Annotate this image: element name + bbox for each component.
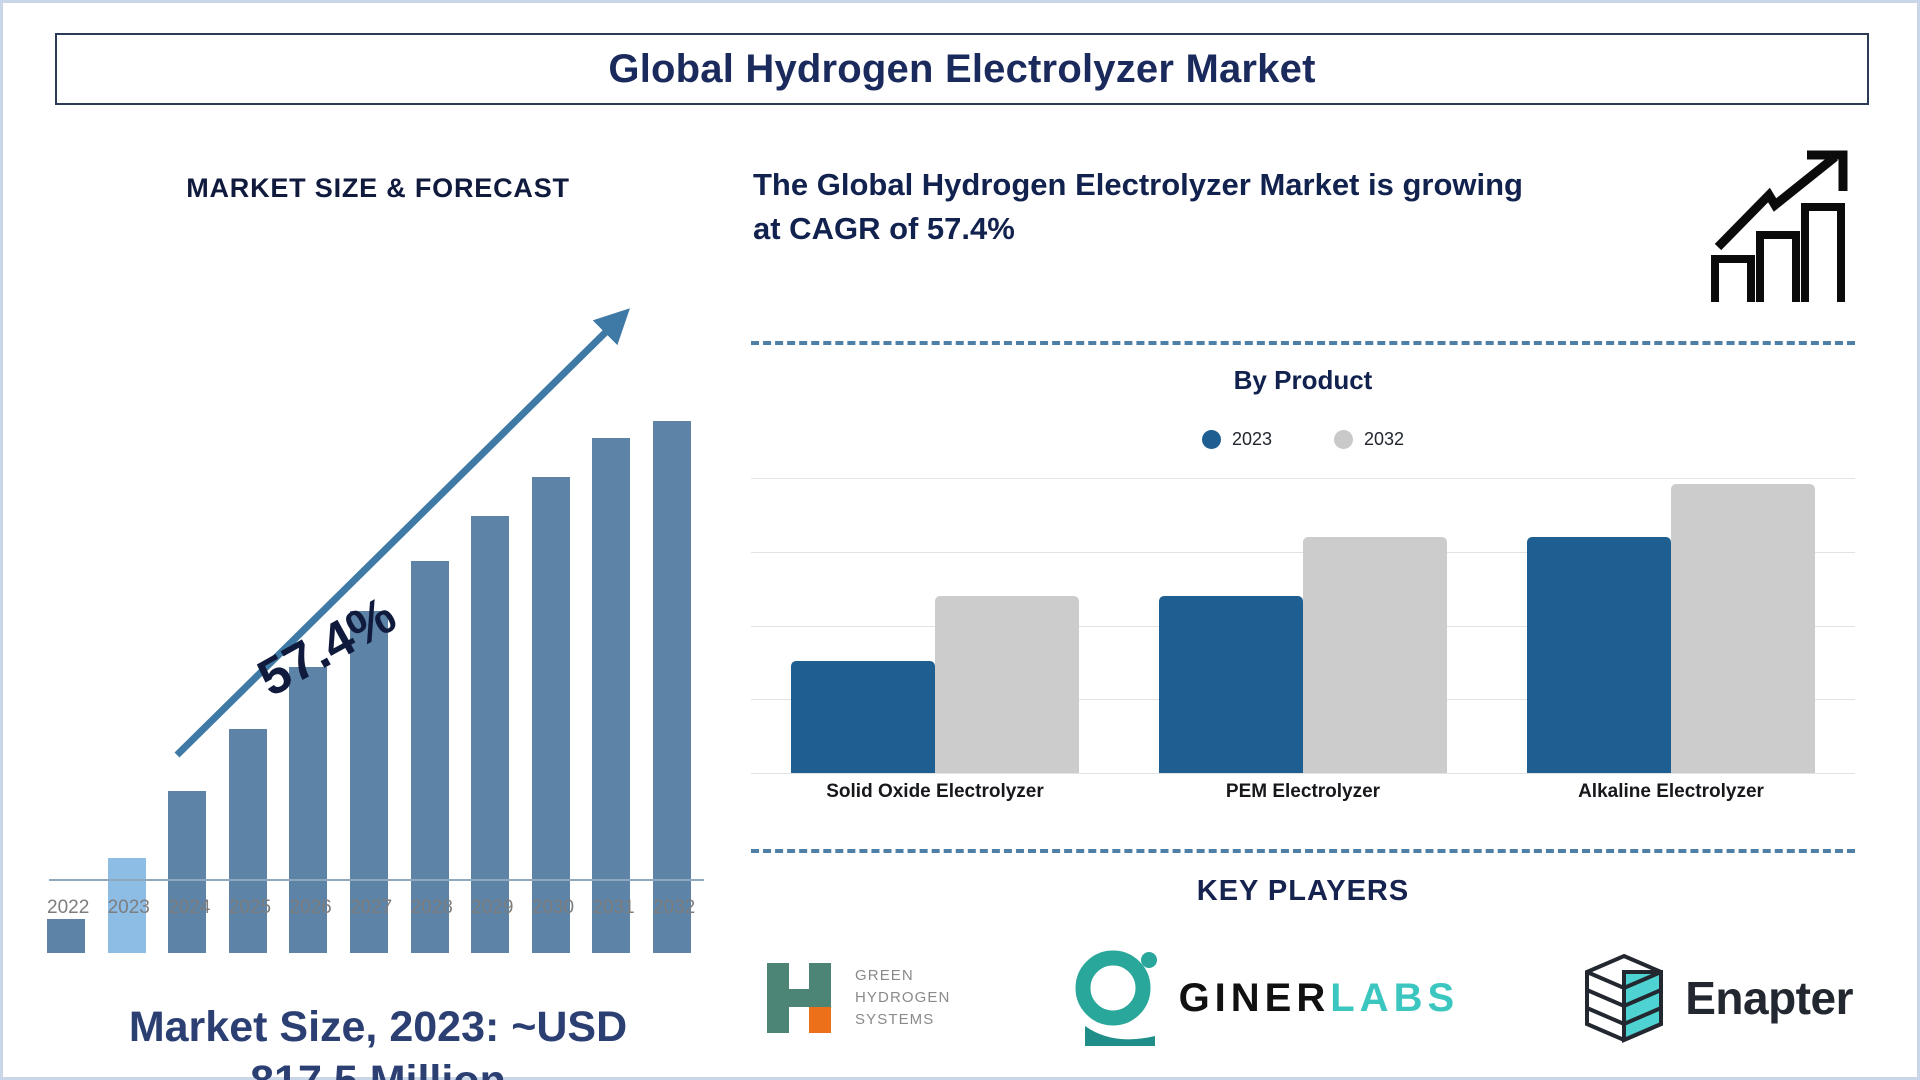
- by-product-legend: 2023 2032: [743, 429, 1863, 450]
- page-title: Global Hydrogen Electrolyzer Market: [608, 47, 1315, 92]
- forecast-bar-2031: [592, 438, 630, 953]
- legend-dot-2032-icon: [1334, 430, 1353, 449]
- market-size-forecast-panel: MARKET SIZE & FORECAST 2022 2023: [23, 133, 733, 1043]
- bar-group-solid-oxide: [751, 478, 1119, 773]
- gridline-5: [751, 773, 1855, 774]
- giner-labs-mark-icon: [1073, 950, 1165, 1046]
- x-tick-2032: 2032: [653, 897, 691, 919]
- infographic-page: Global Hydrogen Electrolyzer Market MARK…: [0, 0, 1920, 1080]
- bar-alkaline-2023: [1527, 537, 1671, 773]
- bar-solid-oxide-2032: [935, 596, 1079, 773]
- enapter-mark-icon: [1581, 952, 1667, 1044]
- bar-pem-2032: [1303, 537, 1447, 773]
- by-product-bar-groups: [751, 478, 1855, 773]
- logo-giner-labs: GINERLABS: [1073, 950, 1460, 1046]
- x-tick-2029: 2029: [471, 897, 509, 919]
- divider-top: [751, 341, 1855, 345]
- market-size-value-line2: 817.5 Million: [250, 1057, 506, 1080]
- cagr-headline: The Global Hydrogen Electrolyzer Market …: [753, 163, 1553, 251]
- legend-dot-2023-icon: [1202, 430, 1221, 449]
- category-label-alkaline: Alkaline Electrolyzer: [1487, 781, 1855, 803]
- enapter-wordmark: Enapter: [1685, 971, 1853, 1025]
- x-tick-2026: 2026: [289, 897, 327, 919]
- market-size-forecast-chart: 2022 2023 2024 2025 2026 2027 2028 2029 …: [39, 293, 719, 953]
- ghs-line-1: GREEN: [855, 965, 950, 987]
- x-tick-2031: 2031: [592, 897, 630, 919]
- legend-label-2032: 2032: [1364, 429, 1404, 450]
- forecast-axis-line: [49, 879, 704, 881]
- green-hydrogen-systems-wordmark: GREEN HYDROGEN SYSTEMS: [855, 965, 950, 1030]
- x-tick-2022: 2022: [47, 897, 85, 919]
- by-product-category-labels: Solid Oxide Electrolyzer PEM Electrolyze…: [751, 781, 1855, 803]
- x-tick-2030: 2030: [532, 897, 570, 919]
- forecast-bar-2022: [47, 919, 85, 953]
- giner-labs-wordmark: GINERLABS: [1179, 976, 1460, 1021]
- forecast-bar-2029: [471, 516, 509, 953]
- key-players-logos: GREEN HYDROGEN SYSTEMS GINERLABS: [763, 933, 1853, 1063]
- forecast-bar-2030: [532, 477, 570, 953]
- right-panel: The Global Hydrogen Electrolyzer Market …: [743, 133, 1863, 1053]
- market-size-value: Market Size, 2023: ~USD 817.5 Million: [23, 1001, 733, 1080]
- bar-group-pem: [1119, 478, 1487, 773]
- ghs-line-3: SYSTEMS: [855, 1009, 950, 1031]
- growth-chart-arrow-icon: [1703, 147, 1853, 307]
- ghs-line-2: HYDROGEN: [855, 987, 950, 1009]
- category-label-solid-oxide: Solid Oxide Electrolyzer: [751, 781, 1119, 803]
- bar-group-alkaline: [1487, 478, 1855, 773]
- x-tick-2023: 2023: [108, 897, 146, 919]
- forecast-bars: [39, 393, 699, 953]
- divider-bottom: [751, 849, 1855, 853]
- market-size-forecast-heading: MARKET SIZE & FORECAST: [23, 173, 733, 204]
- bar-pem-2023: [1159, 596, 1303, 773]
- x-tick-2027: 2027: [350, 897, 388, 919]
- x-tick-2028: 2028: [411, 897, 449, 919]
- legend-item-2023: 2023: [1202, 429, 1272, 450]
- bar-solid-oxide-2023: [791, 661, 935, 773]
- legend-item-2032: 2032: [1334, 429, 1404, 450]
- category-label-pem: PEM Electrolyzer: [1119, 781, 1487, 803]
- page-title-box: Global Hydrogen Electrolyzer Market: [55, 33, 1869, 105]
- giner-word: GINER: [1179, 976, 1331, 1020]
- forecast-x-axis-labels: 2022 2023 2024 2025 2026 2027 2028 2029 …: [39, 897, 699, 919]
- logo-green-hydrogen-systems: GREEN HYDROGEN SYSTEMS: [763, 959, 950, 1037]
- bar-alkaline-2032: [1671, 484, 1815, 773]
- market-size-value-line1: Market Size, 2023: ~USD: [129, 1003, 627, 1051]
- x-tick-2024: 2024: [168, 897, 206, 919]
- x-tick-2025: 2025: [229, 897, 267, 919]
- labs-word: LABS: [1330, 976, 1459, 1020]
- forecast-bar-2025: [229, 729, 267, 953]
- green-hydrogen-systems-mark-icon: [763, 959, 841, 1037]
- legend-label-2023: 2023: [1232, 429, 1272, 450]
- key-players-title: KEY PLAYERS: [743, 875, 1863, 908]
- forecast-bar-2024: [168, 791, 206, 953]
- forecast-bar-2028: [411, 561, 449, 953]
- by-product-chart: [751, 478, 1855, 773]
- forecast-bar-2032: [653, 421, 691, 953]
- by-product-title: By Product: [743, 365, 1863, 396]
- logo-enapter: Enapter: [1581, 952, 1853, 1044]
